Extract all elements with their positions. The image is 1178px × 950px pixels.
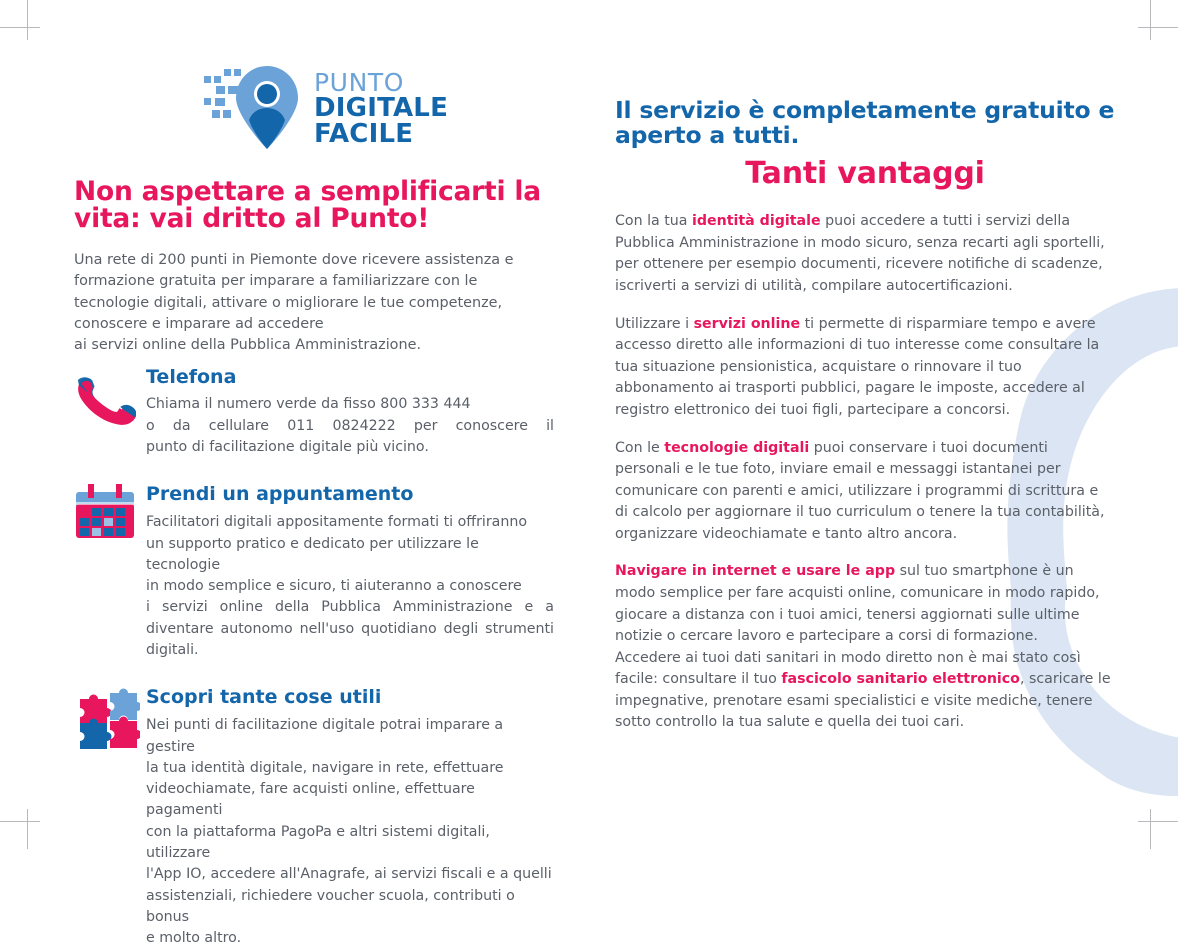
crop-mark-top-right-vertical	[1150, 0, 1151, 40]
appuntamento-line-5: diventare autonomo nell'uso quotidiano d…	[146, 619, 554, 640]
telefona-line-2: o da cellulare 011 0824222 per conoscere…	[146, 416, 554, 437]
left-column: PUNTO DIGITALE FACILE Non aspettare a se…	[74, 64, 554, 950]
scopri-line-6: assistenziali, richiedere voucher scuola…	[146, 888, 515, 925]
phone-icon	[74, 371, 136, 433]
calendar-icon	[74, 484, 136, 542]
intro-line-1: Una rete di 200 punti in Piemonte dove r…	[74, 252, 514, 268]
p4-highlight: Navigare in internet e usare le app	[615, 563, 895, 579]
left-headline: Non aspettare a semplificarti la vita: v…	[74, 178, 554, 232]
crop-mark-top-left-horizontal	[0, 27, 40, 28]
right-paragraph-1: Con la tua identità digitale puoi accede…	[615, 211, 1115, 297]
puzzle-pieces-icon	[74, 687, 140, 749]
crop-mark-top-left-vertical	[27, 0, 28, 40]
right-subheadline: Tanti vantaggi	[615, 158, 1115, 190]
feature-text-appuntamento: Facilitatori digitali appositamente form…	[146, 512, 554, 661]
right-paragraph-5: Accedere ai tuoi dati sanitari in modo d…	[615, 648, 1115, 734]
brand-logo-text: PUNTO DIGITALE FACILE	[314, 70, 448, 147]
crop-mark-bottom-right-vertical	[1150, 809, 1151, 849]
p2-highlight: servizi online	[694, 316, 801, 332]
right-paragraph-3: Con le tecnologie digitali puoi conserva…	[615, 438, 1115, 546]
feature-body: Scopri tante cose utili Nei punti di fac…	[146, 687, 554, 949]
crop-mark-bottom-left-horizontal	[0, 821, 40, 822]
feature-heading-appuntamento: Prendi un appuntamento	[146, 484, 554, 505]
feature-icon-wrap	[74, 367, 146, 459]
brochure-page: PUNTO DIGITALE FACILE Non aspettare a se…	[0, 0, 1178, 849]
feature-body: Prendi un appuntamento Facilitatori digi…	[146, 484, 554, 661]
appuntamento-line-4: i servizi online della Pubblica Amminist…	[146, 597, 554, 618]
intro-line-4: ad accedere	[235, 316, 323, 332]
logo-line-facile: FACILE	[314, 121, 448, 147]
feature-body: Telefona Chiama il numero verde da fisso…	[146, 367, 554, 459]
feature-scopri: Scopri tante cose utili Nei punti di fac…	[74, 687, 554, 949]
feature-icon-wrap	[74, 687, 146, 949]
appuntamento-line-1: Facilitatori digitali appositamente form…	[146, 514, 527, 530]
feature-telefona: Telefona Chiama il numero verde da fisso…	[74, 367, 554, 459]
scopri-line-1: Nei punti di facilitazione digitale potr…	[146, 717, 503, 754]
left-intro-paragraph: Una rete di 200 punti in Piemonte dove r…	[74, 250, 554, 357]
feature-heading-telefona: Telefona	[146, 367, 554, 388]
scopri-line-5: l'App IO, accedere all'Anagrafe, ai serv…	[146, 866, 552, 882]
telefona-line-3: punto di facilitazione digitale più vici…	[146, 439, 429, 455]
crop-mark-bottom-left-vertical	[27, 809, 28, 849]
right-paragraph-4: Navigare in internet e usare le app sul …	[615, 561, 1115, 647]
telefona-line-1: Chiama il numero verde da fisso 800 333 …	[146, 396, 471, 412]
p3-pre: Con le	[615, 440, 664, 456]
p3-highlight: tecnologie digitali	[664, 440, 809, 456]
feature-text-telefona: Chiama il numero verde da fisso 800 333 …	[146, 394, 554, 458]
crop-mark-bottom-right-horizontal	[1138, 821, 1178, 822]
appuntamento-line-3: in modo semplice e sicuro, ti aiuteranno…	[146, 578, 522, 594]
p1-highlight: identità digitale	[692, 213, 821, 229]
scopri-line-2: la tua identità digitale, navigare in re…	[146, 760, 503, 776]
scopri-line-3: videochiamate, fare acquisti online, eff…	[146, 781, 475, 818]
logo-line-punto: PUNTO	[314, 70, 448, 95]
right-paragraph-2: Utilizzare i servizi online ti permette …	[615, 314, 1115, 422]
right-column: Il servizio è completamente gratuito e a…	[615, 98, 1115, 750]
intro-line-5: ai servizi online della Pubblica Amminis…	[74, 337, 421, 353]
location-pin-person-icon	[204, 64, 300, 152]
p1-pre: Con la tua	[615, 213, 692, 229]
p5-highlight: fascicolo sanitario elettronico	[781, 671, 1020, 687]
logo-line-digitale: DIGITALE	[314, 95, 448, 121]
feature-heading-scopri: Scopri tante cose utili	[146, 687, 554, 708]
feature-text-scopri: Nei punti di facilitazione digitale potr…	[146, 715, 554, 949]
crop-mark-top-right-horizontal	[1138, 27, 1178, 28]
scopri-line-4: con la piattaforma PagoPa e altri sistem…	[146, 824, 490, 861]
feature-appuntamento: Prendi un appuntamento Facilitatori digi…	[74, 484, 554, 661]
p2-pre: Utilizzare i	[615, 316, 694, 332]
appuntamento-line-6: digitali.	[146, 642, 199, 658]
brand-logo: PUNTO DIGITALE FACILE	[204, 64, 554, 152]
scopri-line-7: e molto altro.	[146, 930, 241, 946]
right-headline: Il servizio è completamente gratuito e a…	[615, 98, 1115, 148]
appuntamento-line-2: un supporto pratico e dedicato per utili…	[146, 536, 479, 573]
feature-icon-wrap	[74, 484, 146, 661]
